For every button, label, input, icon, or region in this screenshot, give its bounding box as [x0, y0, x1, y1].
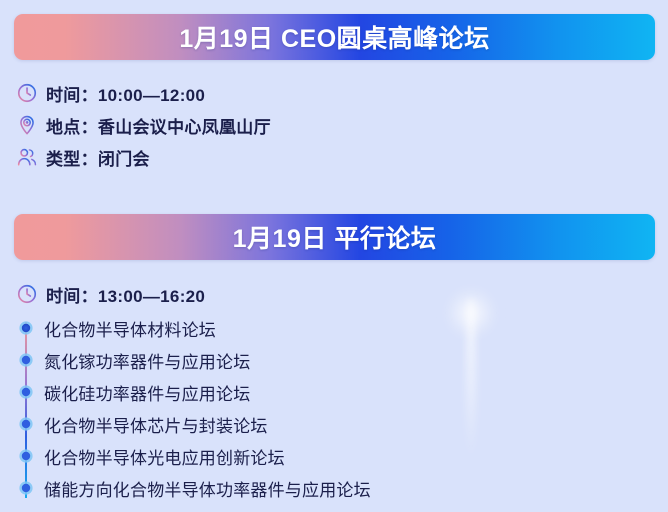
- list-item[interactable]: 碳化硅功率器件与应用论坛: [14, 376, 614, 408]
- forum-label: 碳化硅功率器件与应用论坛: [44, 380, 250, 405]
- info-text-type-ceo: 类型：闭门会: [46, 145, 150, 170]
- bullet-dot-icon: [14, 476, 38, 500]
- section-banner-ceo-roundtable: 1月19日 CEO圆桌高峰论坛: [14, 14, 655, 60]
- forum-label: 化合物半导体芯片与封装论坛: [44, 412, 268, 437]
- section-banner-parallel-forum: 1月19日 平行论坛: [14, 214, 655, 260]
- forum-label: 化合物半导体光电应用创新论坛: [44, 444, 285, 469]
- banner-title-ceo-roundtable: 1月19日 CEO圆桌高峰论坛: [179, 19, 489, 55]
- bullet-dot-icon: [14, 444, 38, 468]
- clock-icon: [16, 82, 38, 104]
- bullet-dot-icon: [14, 380, 38, 404]
- bullet-dot-icon: [14, 316, 38, 340]
- list-item[interactable]: 化合物半导体芯片与封装论坛: [14, 408, 614, 440]
- list-item[interactable]: 氮化镓功率器件与应用论坛: [14, 344, 614, 376]
- forum-label: 氮化镓功率器件与应用论坛: [44, 348, 250, 373]
- location-pin-icon: [16, 114, 38, 136]
- info-row-type-ceo: 类型：闭门会: [16, 144, 150, 170]
- clock-icon: [16, 283, 38, 305]
- people-icon: [16, 146, 38, 168]
- list-item[interactable]: 化合物半导体光电应用创新论坛: [14, 440, 614, 472]
- info-text-time-ceo: 时间：10:00—12:00: [46, 81, 205, 106]
- info-row-time-ceo: 时间：10:00—12:00: [16, 80, 205, 106]
- info-row-time-parallel: 时间：13:00—16:20: [16, 281, 205, 307]
- list-item[interactable]: 储能方向化合物半导体功率器件与应用论坛: [14, 472, 614, 504]
- info-row-location-ceo: 地点：香山会议中心凤凰山厅: [16, 112, 271, 138]
- banner-title-parallel-forum: 1月19日 平行论坛: [233, 219, 437, 255]
- bullet-dot-icon: [14, 412, 38, 436]
- agenda-page: 1月19日 CEO圆桌高峰论坛 时间：10:00—12:00: [0, 0, 668, 512]
- forum-list: 化合物半导体材料论坛 氮化镓功率器件与应用论坛 碳化硅功率器件与应用论坛 化合物…: [14, 312, 614, 504]
- list-item[interactable]: 化合物半导体材料论坛: [14, 312, 614, 344]
- info-text-location-ceo: 地点：香山会议中心凤凰山厅: [46, 113, 271, 138]
- forum-label: 化合物半导体材料论坛: [44, 316, 216, 341]
- info-text-time-parallel: 时间：13:00—16:20: [46, 282, 205, 307]
- bullet-dot-icon: [14, 348, 38, 372]
- forum-label: 储能方向化合物半导体功率器件与应用论坛: [44, 476, 371, 501]
